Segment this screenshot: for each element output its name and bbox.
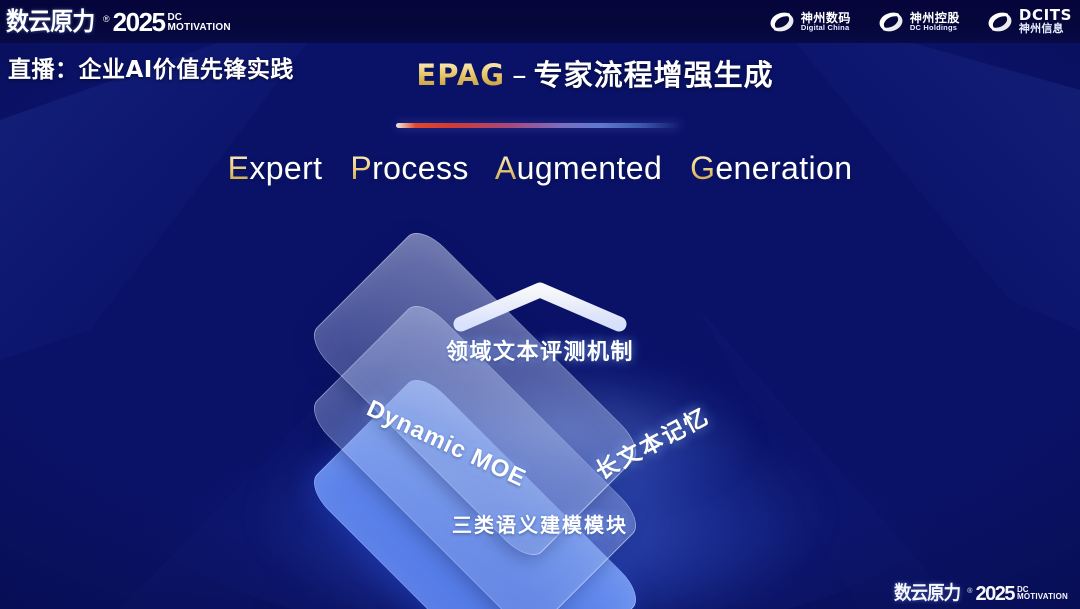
partner-logo-bar: 神州数码 Digital China 神州控股 DC Holdings DCIT… xyxy=(768,5,1072,39)
subtitle-word-expert: Expert xyxy=(228,150,323,186)
title-dash: – xyxy=(512,58,527,92)
partner-name-en: DC Holdings xyxy=(910,24,960,32)
partner-logo-dc-holdings: 神州控股 DC Holdings xyxy=(877,9,960,35)
layer-bottom-label: 三类语义建模模块 xyxy=(452,509,628,538)
subtitle-word-process: Process xyxy=(350,150,468,186)
partner-name-en: 神州信息 xyxy=(1019,24,1072,36)
brand-logo-cn: 数云原力 xyxy=(6,9,94,34)
brand-logo-year: 2025 xyxy=(113,9,165,35)
partner-name-cn: DCITS xyxy=(1019,8,1072,24)
subtitle-word-augmented: Augmented xyxy=(495,150,662,186)
subtitle-word-generation: Generation xyxy=(690,150,852,186)
brand-logo-dc-motivation: DC MOTIVATION xyxy=(168,13,231,32)
slide-canvas: 领域文本评测机制 Dynamic MOE 长文本记忆 三类语义建模模块 EPAG… xyxy=(0,0,1080,609)
livestream-headline: 直播：企业AI价值先锋实践 xyxy=(8,50,294,84)
partner-logo-dcits: DCITS 神州信息 xyxy=(986,8,1072,35)
watermark-logo-year: 2025 xyxy=(975,584,1014,604)
layer-top-label: 领域文本评测机制 xyxy=(446,334,634,366)
swirl-logo-icon xyxy=(877,9,905,35)
partner-name-en: Digital China xyxy=(801,24,851,32)
title-divider xyxy=(396,123,680,128)
brand-registered-mark: ® xyxy=(103,14,110,24)
page-subtitle: Expert Process Augmented Generation xyxy=(0,150,1080,187)
watermark-registered-mark: ® xyxy=(967,588,972,595)
brand-logo-watermark: 数云原力®2025 DC MOTIVATION xyxy=(894,583,1068,603)
chevron-up-icon xyxy=(449,278,631,336)
swirl-logo-icon xyxy=(768,9,796,35)
partner-logo-digital-china: 神州数码 Digital China xyxy=(768,9,851,35)
title-chinese: 专家流程增强生成 xyxy=(534,58,774,92)
brand-logo-top-left: 数云原力®2025 DC MOTIVATION xyxy=(6,2,231,34)
subtitle-space xyxy=(332,150,341,186)
swirl-logo-icon xyxy=(986,9,1014,35)
title-acronym: EPAG xyxy=(416,58,505,92)
watermark-dc-motivation: DC MOTIVATION xyxy=(1017,586,1068,601)
watermark-logo-cn: 数云原力 xyxy=(894,584,960,603)
